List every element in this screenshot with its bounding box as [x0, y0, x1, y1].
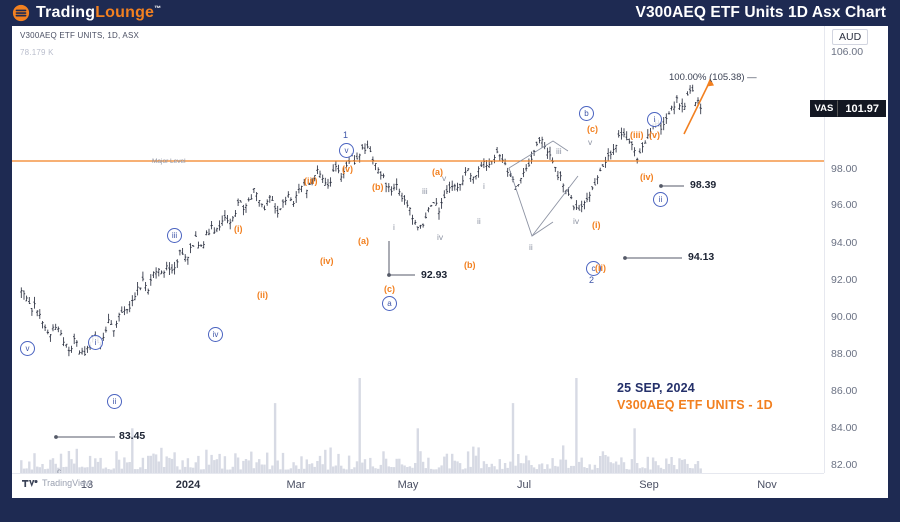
time-tick-jul: Jul: [517, 479, 531, 491]
app-header: TradingLounge™ V300AEQ ETF Units 1D Asx …: [0, 0, 900, 26]
price-axis[interactable]: AUD 106.00 98.00 96.00 94.00 92.00 90.00…: [824, 26, 888, 473]
price-tick-92: 92.00: [831, 274, 857, 286]
price-tick-96: 96.00: [831, 199, 857, 211]
tradingview-credit[interactable]: TradingView: [22, 478, 92, 488]
chart-panel: V300AEQ ETF UNITS, 1D, ASX 78.179 K: [12, 26, 888, 498]
price-tick-86: 86.00: [831, 385, 857, 397]
time-tick-nov: Nov: [757, 479, 777, 491]
chart-canvas: [12, 26, 824, 473]
fib-projection-arrow: [684, 78, 714, 134]
circle-bars-logo-icon: [12, 4, 30, 22]
brand-word-primary: Trading: [36, 4, 95, 21]
measure-lines: [54, 184, 684, 439]
price-tick-94: 94.00: [831, 237, 857, 249]
page-title: V300AEQ ETF Units 1D Asx Chart: [636, 4, 900, 22]
price-tick-106: 106.00: [831, 46, 863, 58]
time-tick-mar: Mar: [287, 479, 306, 491]
last-price-value: 101.97: [838, 100, 886, 117]
time-tick-sep: Sep: [639, 479, 659, 491]
time-axis[interactable]: 13 2024 Mar May Jul Sep Nov: [12, 473, 824, 498]
price-bars: [20, 85, 702, 357]
brand-wordmark: TradingLounge™: [36, 5, 161, 21]
brand-trademark: ™: [154, 6, 161, 13]
price-tick-98: 98.00: [831, 163, 857, 175]
price-tick-88: 88.00: [831, 348, 857, 360]
currency-badge: AUD: [832, 29, 868, 45]
tradingview-credit-label: TradingView: [42, 478, 92, 488]
price-tick-84: 84.00: [831, 422, 857, 434]
last-price-ticker: VAS: [810, 100, 839, 117]
volume-histogram: [20, 378, 702, 473]
price-tick-90: 90.00: [831, 311, 857, 323]
wave-channel-lines: [509, 141, 578, 236]
time-tick-2024: 2024: [176, 479, 200, 491]
tradingview-logo-icon: [22, 479, 38, 488]
screenshot-root: TradingLounge™ V300AEQ ETF Units 1D Asx …: [0, 0, 900, 522]
last-price-badge[interactable]: VAS 101.97: [810, 100, 887, 117]
time-tick-may: May: [398, 479, 419, 491]
plot-area[interactable]: 83.45 92.93 94.13 98.39 100.00% (105.38)…: [12, 26, 824, 473]
brand-logo[interactable]: TradingLounge™: [0, 4, 161, 22]
price-tick-82: 82.00: [831, 459, 857, 471]
brand-word-secondary: Lounge: [95, 4, 154, 21]
